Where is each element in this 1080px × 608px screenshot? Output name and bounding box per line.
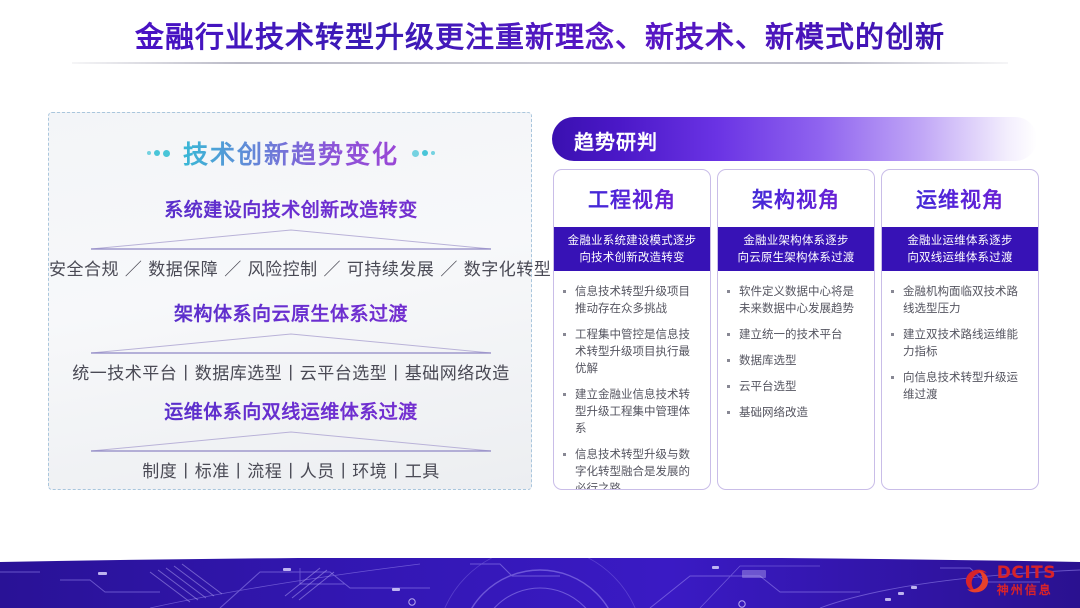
list-item: 建立金融业信息技术转型升级工程集中管理体系 xyxy=(560,386,700,437)
perspective-card[interactable]: 工程视角 金融业系统建设模式逐步 向技术创新改造转变 信息技术转型升级项目推动存… xyxy=(553,169,711,490)
list-item: 基础网络改造 xyxy=(724,404,864,421)
dcits-swirl-icon xyxy=(962,566,992,596)
trend-group-items: 制度丨标准丨流程丨人员丨环境丨工具 xyxy=(49,457,533,482)
chevron-separator-icon xyxy=(71,429,511,455)
title-divider xyxy=(72,62,1008,64)
perspective-card-band: 金融业系统建设模式逐步 向技术创新改造转变 xyxy=(554,227,710,271)
card-band-line: 向云原生架构体系过渡 xyxy=(724,249,868,266)
perspective-card-title: 架构视角 xyxy=(718,170,874,227)
slide-root: 金融行业技术转型升级更注重新理念、新技术、新模式的创新 技术创新趋势变化 系统建… xyxy=(0,0,1080,608)
card-band-line: 金融业运维体系逐步 xyxy=(888,232,1032,249)
list-item: 向信息技术转型升级运维过渡 xyxy=(888,369,1028,403)
card-band-line: 向技术创新改造转变 xyxy=(560,249,704,266)
logo-text: DCITS 神州信息 xyxy=(997,565,1056,596)
page-title-wrap: 金融行业技术转型升级更注重新理念、新技术、新模式的创新 xyxy=(0,14,1080,56)
perspective-card-list: 工程视角 金融业系统建设模式逐步 向技术创新改造转变 信息技术转型升级项目推动存… xyxy=(553,169,1039,490)
trend-group-heading: 系统建设向技术创新改造转变 xyxy=(49,195,533,222)
trend-group-items: 安全合规 ／ 数据保障 ／ 风险控制 ／ 可持续发展 ／ 数字化转型 xyxy=(49,255,533,280)
perspective-card-bullets: 信息技术转型升级项目推动存在众多挑战 工程集中管控是信息技术转型升级项目执行最优… xyxy=(554,271,710,490)
logo-cn-text: 神州信息 xyxy=(997,584,1056,596)
list-item: 软件定义数据中心将是未来数据中心发展趋势 xyxy=(724,283,864,317)
trend-group-heading: 运维体系向双线运维体系过渡 xyxy=(49,397,533,424)
page-title: 金融行业技术转型升级更注重新理念、新技术、新模式的创新 xyxy=(135,14,945,56)
chevron-separator-icon xyxy=(71,331,511,357)
footer-circuit-graphic xyxy=(0,558,1080,608)
logo-en-text: DCITS xyxy=(997,565,1056,582)
perspective-card-title: 运维视角 xyxy=(882,170,1038,227)
trend-group-heading: 架构体系向云原生体系过渡 xyxy=(49,299,533,326)
card-band-line: 向双线运维体系过渡 xyxy=(888,249,1032,266)
list-item: 信息技术转型升级与数字化转型融合是发展的必行之路 xyxy=(560,446,700,490)
trend-group: 运维体系向双线运维体系过渡 制度丨标准丨流程丨人员丨环境丨工具 xyxy=(49,397,533,482)
trend-group: 架构体系向云原生体系过渡 统一技术平台丨数据库选型丨云平台选型丨基础网络改造 xyxy=(49,299,533,384)
list-item: 建立双技术路线运维能力指标 xyxy=(888,326,1028,360)
perspective-card-bullets: 软件定义数据中心将是未来数据中心发展趋势 建立统一的技术平台 数据库选型 云平台… xyxy=(718,271,874,421)
perspective-card-band: 金融业架构体系逐步 向云原生架构体系过渡 xyxy=(718,227,874,271)
list-item: 工程集中管控是信息技术转型升级项目执行最优解 xyxy=(560,326,700,377)
perspective-card[interactable]: 架构视角 金融业架构体系逐步 向云原生架构体系过渡 软件定义数据中心将是未来数据… xyxy=(717,169,875,490)
trend-group: 系统建设向技术创新改造转变 安全合规 ／ 数据保障 ／ 风险控制 ／ 可持续发展… xyxy=(49,195,533,280)
card-band-line: 金融业系统建设模式逐步 xyxy=(560,232,704,249)
list-item: 信息技术转型升级项目推动存在众多挑战 xyxy=(560,283,700,317)
chevron-separator-icon xyxy=(71,227,511,253)
trend-judgement-banner: 趋势研判 xyxy=(552,117,1037,161)
list-item: 云平台选型 xyxy=(724,378,864,395)
dot-decoration-right-icon xyxy=(412,150,435,157)
list-item: 金融机构面临双技术路线选型压力 xyxy=(888,283,1028,317)
perspective-card-title: 工程视角 xyxy=(554,170,710,227)
trend-change-panel: 技术创新趋势变化 系统建设向技术创新改造转变 安全合规 ／ 数据保障 ／ 风险控… xyxy=(48,112,532,490)
dot-decoration-left-icon xyxy=(147,150,170,157)
card-band-line: 金融业架构体系逐步 xyxy=(724,232,868,249)
list-item: 数据库选型 xyxy=(724,352,864,369)
footer-banner: DCITS 神州信息 xyxy=(0,558,1080,608)
trend-judgement-banner-label: 趋势研判 xyxy=(574,126,658,155)
list-item: 建立统一的技术平台 xyxy=(724,326,864,343)
trend-change-header: 技术创新趋势变化 xyxy=(49,135,533,171)
perspective-card[interactable]: 运维视角 金融业运维体系逐步 向双线运维体系过渡 金融机构面临双技术路线选型压力… xyxy=(881,169,1039,490)
trend-group-items: 统一技术平台丨数据库选型丨云平台选型丨基础网络改造 xyxy=(49,359,533,384)
trend-change-title: 技术创新趋势变化 xyxy=(183,135,399,171)
company-logo: DCITS 神州信息 xyxy=(962,565,1056,596)
perspective-card-bullets: 金融机构面临双技术路线选型压力 建立双技术路线运维能力指标 向信息技术转型升级运… xyxy=(882,271,1038,403)
perspective-card-band: 金融业运维体系逐步 向双线运维体系过渡 xyxy=(882,227,1038,271)
